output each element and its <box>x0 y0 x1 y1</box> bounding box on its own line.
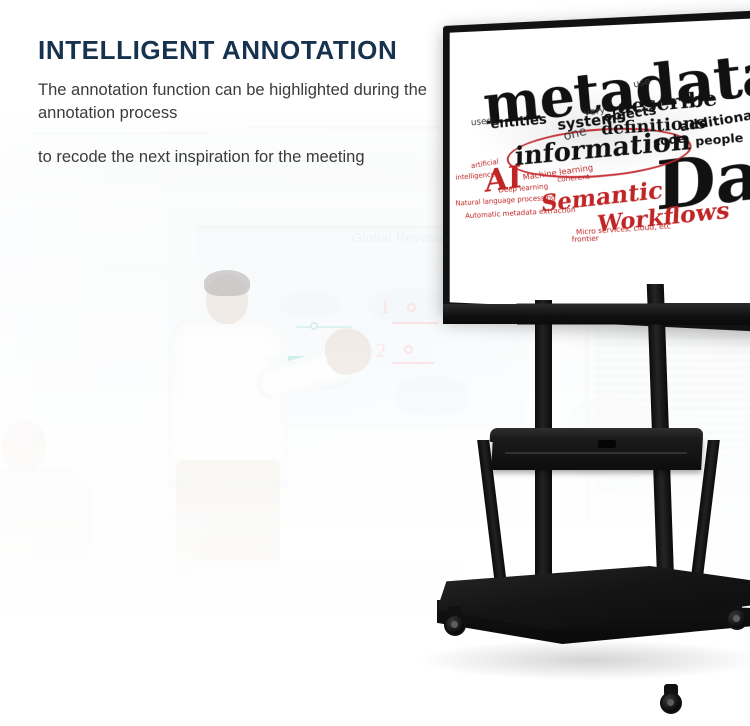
cloud-word-code: code <box>652 133 686 148</box>
accessory-shelf-body <box>491 438 703 470</box>
stand-crossbar <box>443 303 750 325</box>
slide-canvas: Global Revenue 1 2 INTEL <box>0 0 750 726</box>
cloud-word-auto-extraction: Automatic metadata extraction <box>465 207 576 220</box>
display-bezel: metadata Data information describe defin… <box>443 9 750 334</box>
cloud-word-people: people <box>695 132 744 148</box>
caster-hub <box>451 621 458 628</box>
shelf-clamp-knob <box>598 440 616 448</box>
cloud-word-frontier: frontier <box>572 235 600 244</box>
cloud-word-used: used <box>471 117 493 128</box>
cloud-word-coherent: coherent <box>557 174 590 184</box>
caster-hub <box>733 615 740 622</box>
page-title: INTELLIGENT ANNOTATION <box>38 36 458 65</box>
word-cloud: metadata Data information describe defin… <box>450 17 750 318</box>
copy-block: INTELLIGENT ANNOTATION The annotation fu… <box>38 36 458 170</box>
shelf-groove <box>505 452 687 454</box>
body-paragraph-2: to recode the next inspiration for the m… <box>38 146 458 169</box>
caster-hub <box>667 699 674 706</box>
body-paragraph-1: The annotation function can be highlight… <box>38 79 458 126</box>
display-screen[interactable]: metadata Data information describe defin… <box>450 17 750 318</box>
